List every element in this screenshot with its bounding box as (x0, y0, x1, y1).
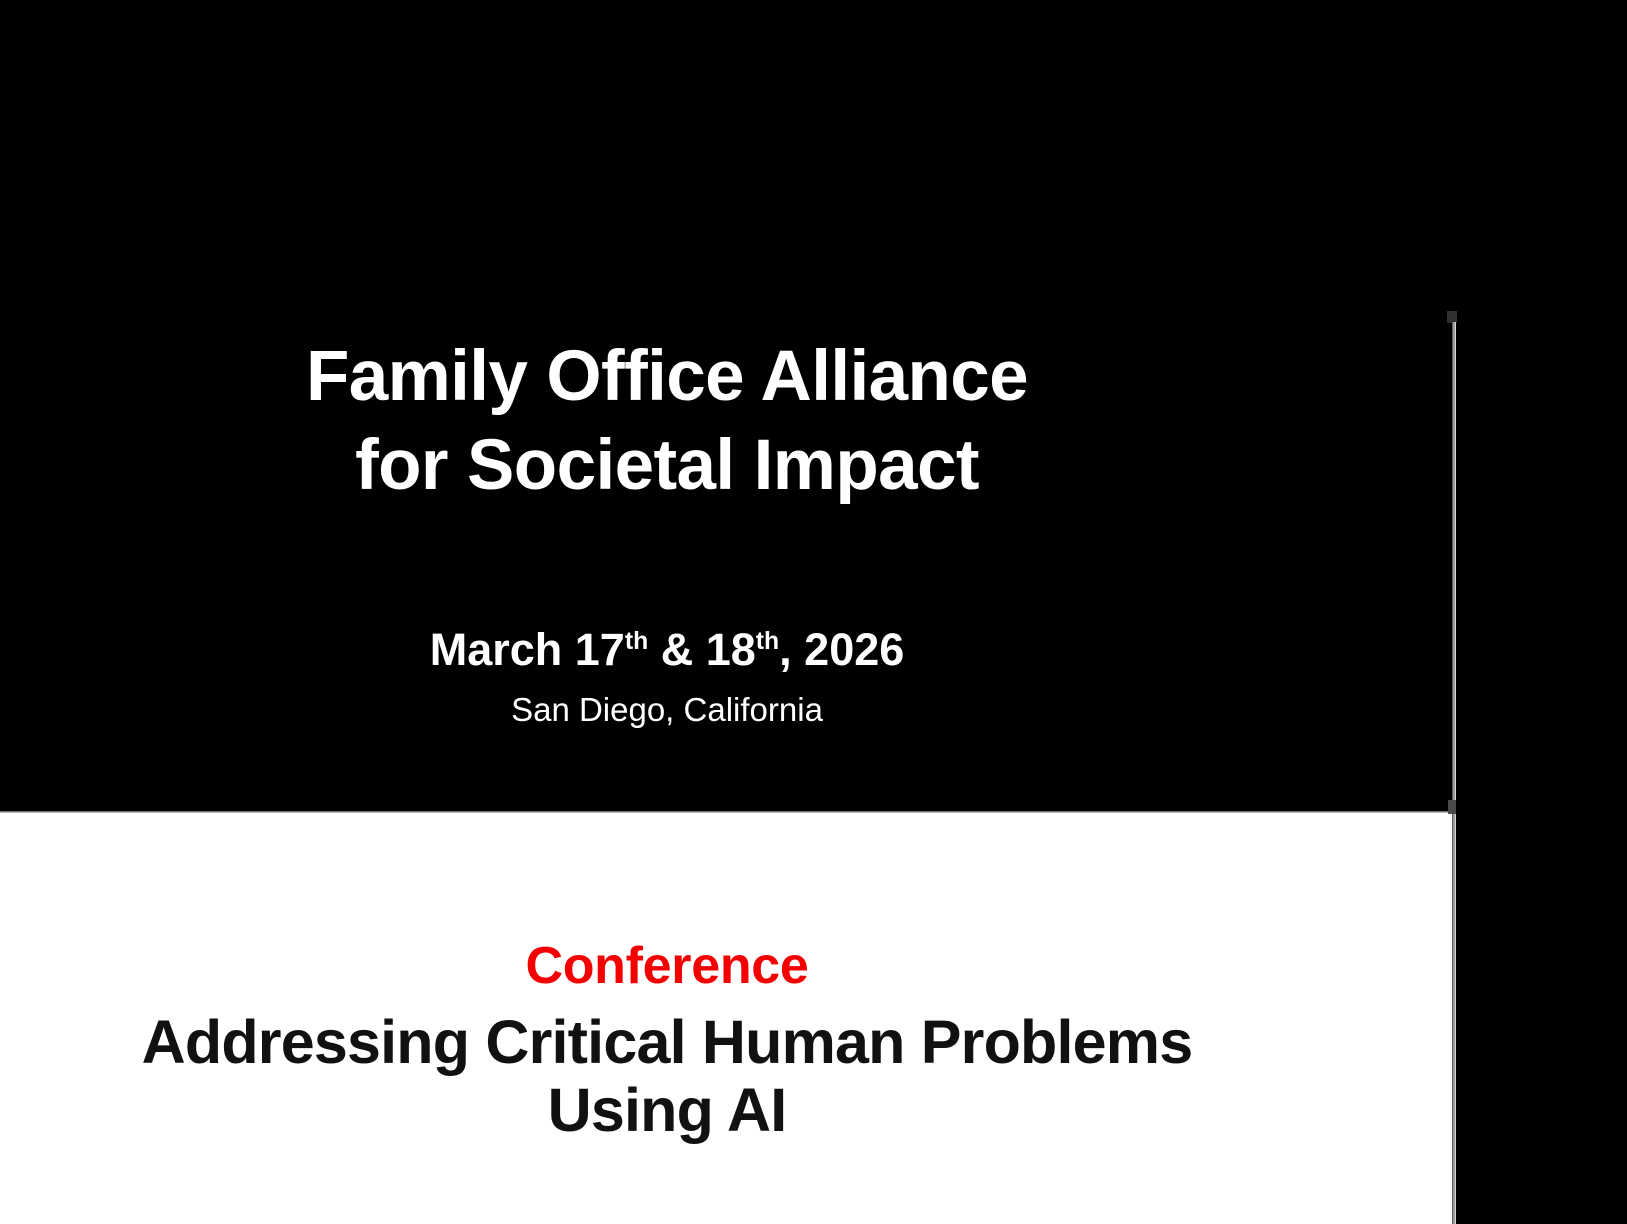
event-date-separator: & (648, 624, 706, 675)
right-edge-rule[interactable] (1452, 322, 1456, 1224)
event-location-block: San Diego, California (0, 690, 1334, 730)
slide-upper-black-panel: Family Office Alliance for Societal Impa… (0, 0, 1453, 812)
panel-divider (0, 810, 1453, 814)
conference-label-block: Conference (0, 936, 1334, 996)
event-date-day-1: 17 (575, 624, 625, 675)
conference-subject-line-1: Addressing Critical Human Problems (0, 1008, 1334, 1076)
event-date-block: March 17th & 18th, 2026 (0, 624, 1334, 676)
organization-title-block: Family Office Alliance for Societal Impa… (0, 332, 1334, 510)
event-date-month: March (430, 624, 575, 675)
conference-label: Conference (0, 936, 1334, 996)
event-date: March 17th & 18th, 2026 (0, 624, 1334, 676)
organization-title-line-2: for Societal Impact (0, 421, 1334, 510)
conference-subject-block: Addressing Critical Human Problems Using… (0, 1008, 1334, 1144)
event-date-day-2: 18 (706, 624, 756, 675)
event-location: San Diego, California (0, 690, 1334, 730)
conference-subject-line-2: Using AI (0, 1076, 1334, 1144)
event-date-day-2-ordinal-suffix: th (756, 628, 779, 655)
event-date-day-1-ordinal-suffix: th (625, 628, 648, 655)
organization-title-line-1: Family Office Alliance (0, 332, 1334, 421)
right-rule-mid-handle[interactable] (1448, 800, 1456, 814)
event-date-year: , 2026 (779, 624, 904, 675)
slide-stage: Family Office Alliance for Societal Impa… (0, 0, 1627, 1224)
